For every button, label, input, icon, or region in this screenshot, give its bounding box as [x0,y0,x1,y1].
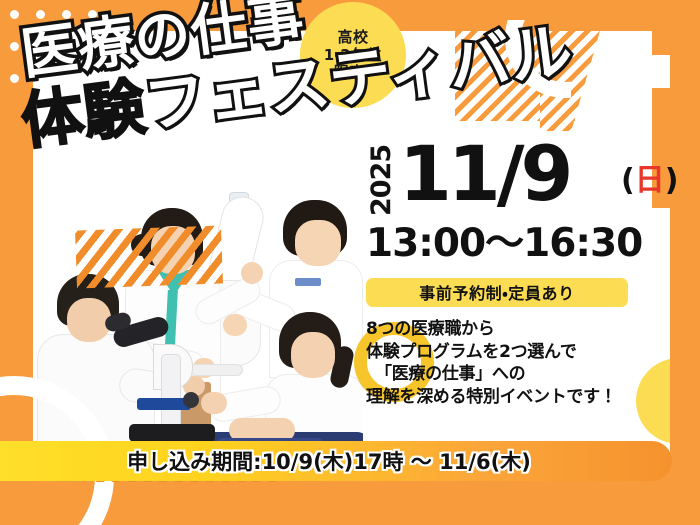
event-date-row: 2025 11/9 (日) [366,140,666,222]
description-line-1: 8つの医療職から [366,318,666,341]
paren-close: ) [665,163,679,198]
orange-right-rail [670,0,700,525]
microscope-base [129,424,215,442]
reservation-badge-label: 事前予約制・定員あり [419,280,574,304]
dot [10,74,19,83]
microscope-knob [183,392,199,408]
event-date: 11/9 [399,136,569,212]
badge-line-2: 1・2年生 [324,47,382,64]
application-period-banner: 申し込み期間:10/9(木)17時 ～ 11/6(木) [0,441,672,481]
event-time: 13:00〜16:30 [366,224,666,265]
weekday-kanji: 日 [635,163,665,198]
chair-armrest [189,364,243,376]
description-line-2: 体験プログラムを2つ選んで [366,341,666,364]
description-line-3: 「医療の仕事」への [366,363,666,386]
badge-line-1: 高校 [337,29,368,46]
dot [62,10,71,19]
description-line-4: 理解を深める特別イベントです！ [366,386,666,409]
student-therapist-face [295,220,341,266]
dot [10,10,19,19]
polka-dots-decoration [0,0,110,110]
event-year: 2025 [366,145,397,216]
student-care-hand [201,392,227,414]
orange-notch-upper [652,31,670,55]
badge-line-3: 限定! [334,64,372,81]
event-info-column: 2025 11/9 (日) 13:00〜16:30 事前予約制・定員あり 8つの… [366,140,666,408]
photo-stripe-overlay [75,225,223,288]
microscope-stand [161,354,181,430]
student-therapist-hand [223,314,247,336]
event-weekday: (日) [621,166,678,196]
application-period-text: 申し込み期間:10/9(木)17時 ～ 11/6(木) [127,446,531,476]
uniform-logo [295,278,321,286]
paren-open: ( [621,163,635,198]
student-care-face [291,332,335,378]
eligibility-badge: 高校 1・2年生 限定! [300,2,406,108]
dot [36,10,45,19]
reservation-badge: 事前予約制・定員あり [366,278,628,307]
event-description: 8つの医療職から 体験プログラムを2つ選んで 「医療の仕事」への 理解を深める特… [366,318,666,408]
dot [88,10,97,19]
poster-root: 高校 1・2年生 限定! 医療の仕事 体験フェスティバル 2025 11/9 (… [0,0,700,525]
student-nurse-hand [241,262,263,284]
dot [10,42,19,51]
